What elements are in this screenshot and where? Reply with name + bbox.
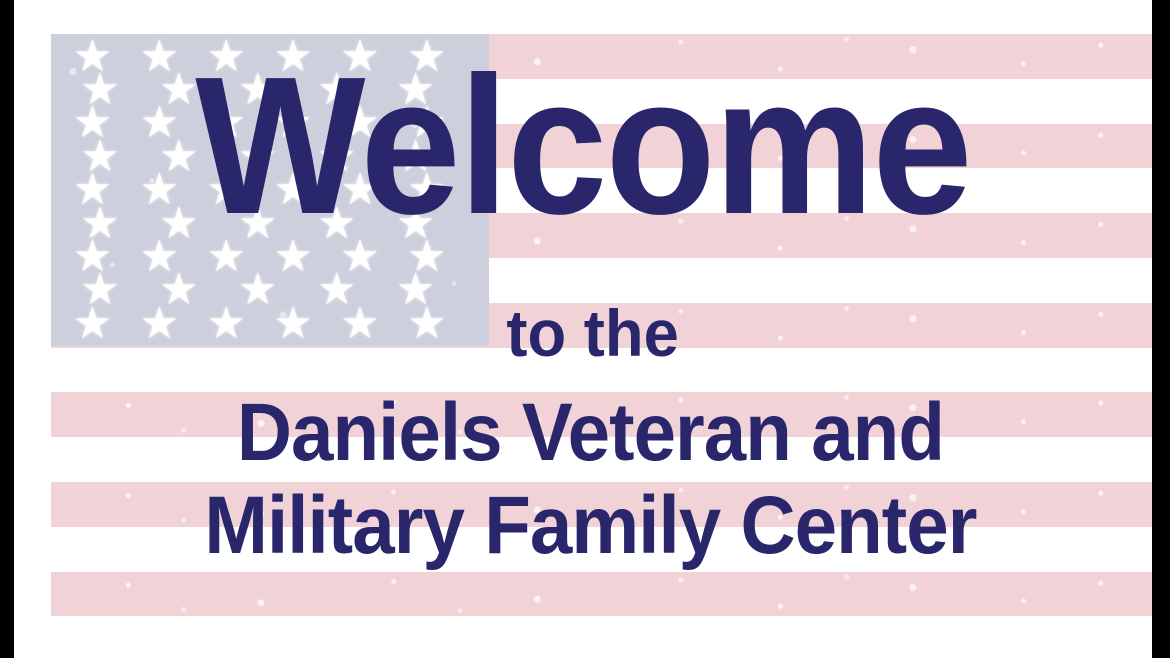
subtitle-connector: to the	[46, 300, 1138, 366]
page-title: Welcome	[60, 48, 1107, 244]
welcome-poster: ★★★★★★★★★★★★★★★★★★★★★★★★★★★★★★★★★★★★★★★★…	[0, 0, 1170, 658]
poster-canvas: ★★★★★★★★★★★★★★★★★★★★★★★★★★★★★★★★★★★★★★★★…	[14, 0, 1152, 658]
poster-text-layer: Welcome to the Daniels Veteran and Milit…	[14, 0, 1152, 658]
flag-stripe	[51, 572, 1156, 617]
organization-name-line-2: Military Family Center	[61, 485, 1119, 567]
letterbox-bar-right	[1152, 0, 1170, 658]
organization-name-line-1: Daniels Veteran and	[61, 392, 1119, 474]
letterbox-bar-left	[0, 0, 14, 658]
